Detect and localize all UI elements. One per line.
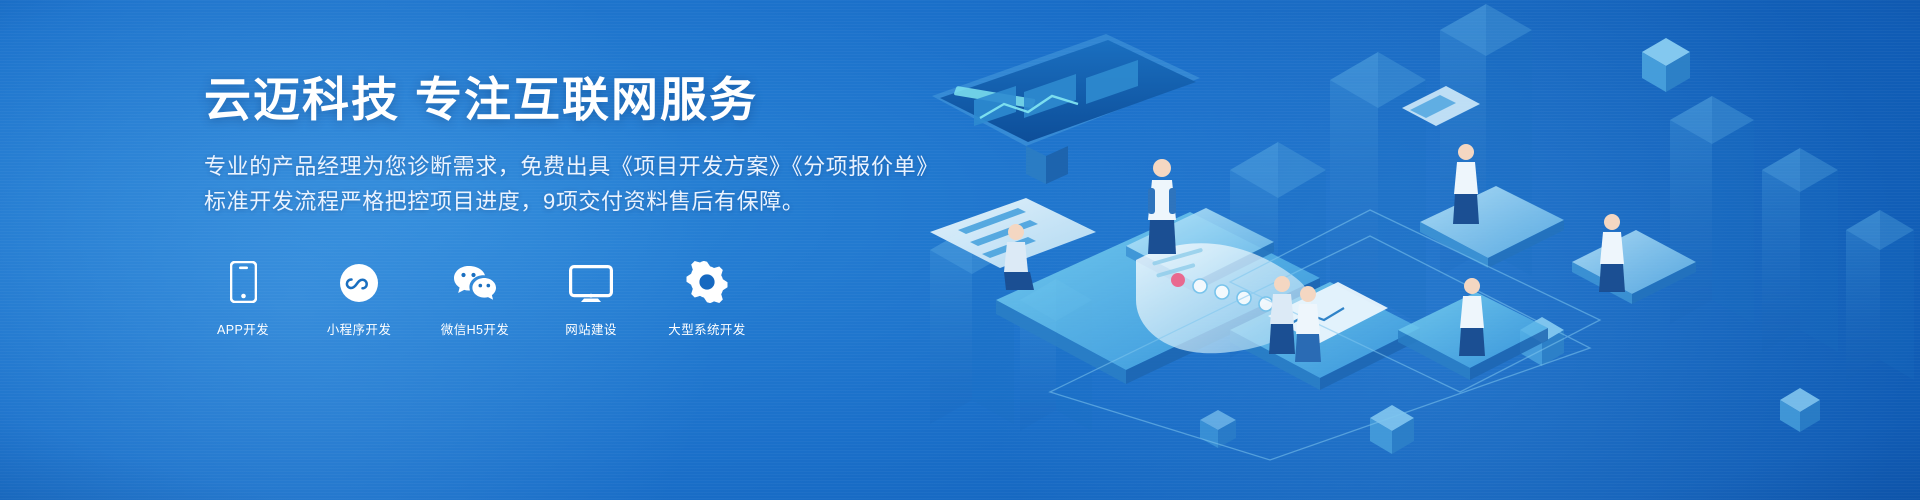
hero-banner: 云迈科技 专注互联网服务 专业的产品经理为您诊断需求，免费出具《项目开发方案》《…: [0, 0, 1920, 500]
service-label: 网站建设: [565, 319, 617, 338]
service-item-large-system[interactable]: 大型系统开发: [668, 259, 746, 338]
subtitle-line-2: 标准开发流程严格把控项目进度，9项交付资料售后有保障。: [204, 184, 944, 219]
hero-illustration: [900, 0, 1920, 500]
service-label: 微信H5开发: [441, 319, 509, 338]
service-list: APP开发 小程序开发: [204, 259, 944, 338]
service-item-website[interactable]: 网站建设: [552, 259, 630, 338]
service-label: APP开发: [217, 319, 269, 338]
mini-program-icon: [339, 259, 379, 303]
wechat-icon: [452, 259, 498, 303]
service-label: 小程序开发: [327, 319, 392, 338]
hero-copy: 云迈科技 专注互联网服务 专业的产品经理为您诊断需求，免费出具《项目开发方案》《…: [204, 72, 944, 338]
service-item-mini-program[interactable]: 小程序开发: [320, 259, 398, 338]
service-item-app[interactable]: APP开发: [204, 259, 282, 338]
page-title: 云迈科技 专注互联网服务: [204, 72, 944, 127]
service-label: 大型系统开发: [668, 319, 745, 338]
service-item-wechat[interactable]: 微信H5开发: [436, 259, 514, 338]
hero-subtitle: 专业的产品经理为您诊断需求，免费出具《项目开发方案》《分项报价单》 标准开发流程…: [204, 149, 944, 219]
monitor-icon: [569, 259, 613, 303]
gear-icon: [686, 259, 728, 303]
mobile-phone-icon: [230, 259, 257, 303]
subtitle-line-1: 专业的产品经理为您诊断需求，免费出具《项目开发方案》《分项报价单》: [204, 149, 944, 184]
